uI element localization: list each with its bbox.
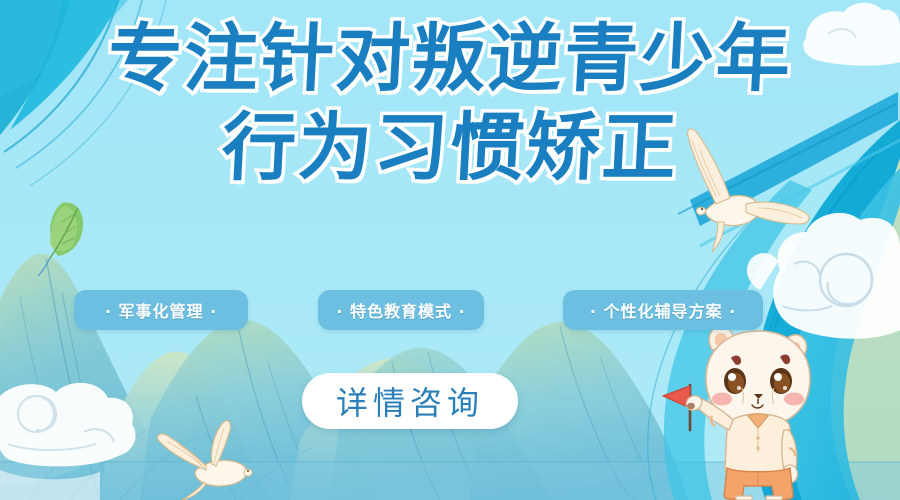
promo-banner: 专注针对叛逆青少年 行为习惯矫正 · 军事化管理 · · 特色教育模式 · · … — [0, 0, 900, 500]
cta-consult-button[interactable]: 详情咨询 — [302, 373, 518, 429]
feature-tag-row: · 军事化管理 · · 特色教育模式 · · 个性化辅导方案 · — [0, 290, 900, 330]
feature-tag-education-model[interactable]: · 特色教育模式 · — [318, 290, 484, 330]
feature-tag-military-management[interactable]: · 军事化管理 · — [74, 290, 248, 330]
feature-tag-personalized-plan[interactable]: · 个性化辅导方案 · — [563, 290, 763, 330]
